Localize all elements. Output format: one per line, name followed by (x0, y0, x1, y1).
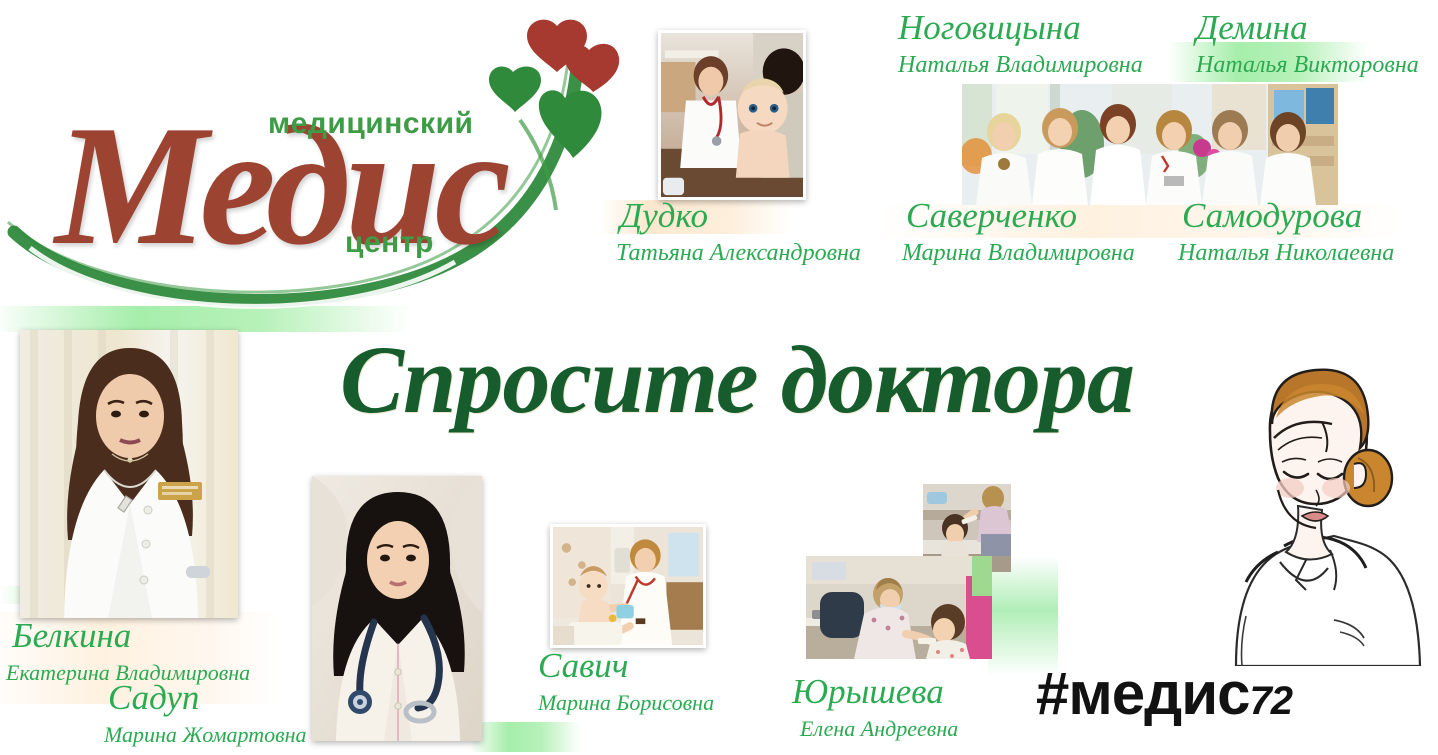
doctor-label-sadup: Садуп Марина Жомартовна (108, 680, 307, 746)
photo-sadup-graphic (312, 476, 482, 741)
doctor-surname: Юрышева (792, 674, 958, 709)
doctor-surname: Ноговицына (898, 10, 1143, 45)
doctor-surname: Самодурова (1182, 198, 1394, 233)
doctor-patronymic: Марина Жомартовна (104, 724, 307, 746)
doctor-patronymic: Наталья Владимировна (898, 53, 1143, 77)
logo-subtitle-top: медицинский (268, 107, 473, 141)
doctor-patronymic: Марина Владимировна (902, 241, 1135, 265)
tint-band-sadup-bottom (470, 722, 580, 752)
doctor-surname: Садуп (108, 680, 307, 715)
medis-logo: Медис медицинский центр (0, 0, 620, 310)
doctor-label-dudko: Дудко Татьяна Александровна (620, 198, 861, 265)
doctor-label-yurysheva: Юрышева Елена Андреевна (792, 674, 958, 740)
doctor-surname: Белкина (12, 618, 250, 653)
photo-savich-examining-infant (550, 524, 706, 648)
doctor-label-belkina: Белкина Екатерина Владимировна (12, 618, 250, 684)
hashtag-text: #медис (1036, 660, 1249, 727)
photo-sadup-portrait-stethoscope (312, 476, 482, 741)
photo-team-group-graphic (962, 84, 1338, 205)
doctor-surname: Демина (1196, 10, 1419, 45)
nurse-line-art-illustration (1218, 366, 1432, 666)
doctor-surname: Саверченко (906, 198, 1135, 233)
doctor-surname: Дудко (620, 198, 861, 233)
doctor-label-demina: Демина Наталья Викторовна (1196, 10, 1419, 77)
photo-savich-graphic (553, 527, 703, 645)
photo-pediatrician-baby-graphic (661, 33, 803, 197)
page-title: Спросите доктора (340, 332, 1134, 428)
doctor-label-savich: Савич Марина Борисовна (538, 648, 714, 714)
doctor-patronymic: Наталья Николаевна (1178, 241, 1394, 265)
doctor-patronymic: Татьяна Александровна (616, 241, 861, 265)
photo-yurysheva-left-graphic (806, 556, 992, 659)
poster-canvas: Медис медицинский центр (0, 0, 1438, 755)
photo-yurysheva-with-child-left (806, 556, 992, 659)
doctor-patronymic: Марина Борисовна (538, 692, 714, 714)
photo-belkina-portrait (20, 330, 238, 618)
logo-subtitle-bottom: центр (345, 226, 434, 260)
photo-belkina-graphic (20, 330, 238, 618)
photo-team-group-six-doctors (962, 84, 1338, 205)
hashtag-number: 72 (1249, 679, 1292, 723)
hashtag-medis72: #медис72 (1036, 664, 1292, 724)
photo-pediatrician-baby-stethoscope (658, 30, 806, 200)
tint-band-savich (988, 556, 1058, 676)
doctor-surname: Савич (538, 648, 714, 683)
doctor-label-samodurova: Самодурова Наталья Николаевна (1182, 198, 1394, 265)
doctor-patronymic: Елена Андреевна (800, 718, 958, 740)
doctor-patronymic: Наталья Викторовна (1196, 53, 1419, 77)
doctor-label-saverchenko: Саверченко Марина Владимировна (906, 198, 1135, 265)
doctor-label-nogovicyna: Ноговицына Наталья Владимировна (898, 10, 1143, 77)
nurse-illustration-graphic (1218, 366, 1432, 666)
